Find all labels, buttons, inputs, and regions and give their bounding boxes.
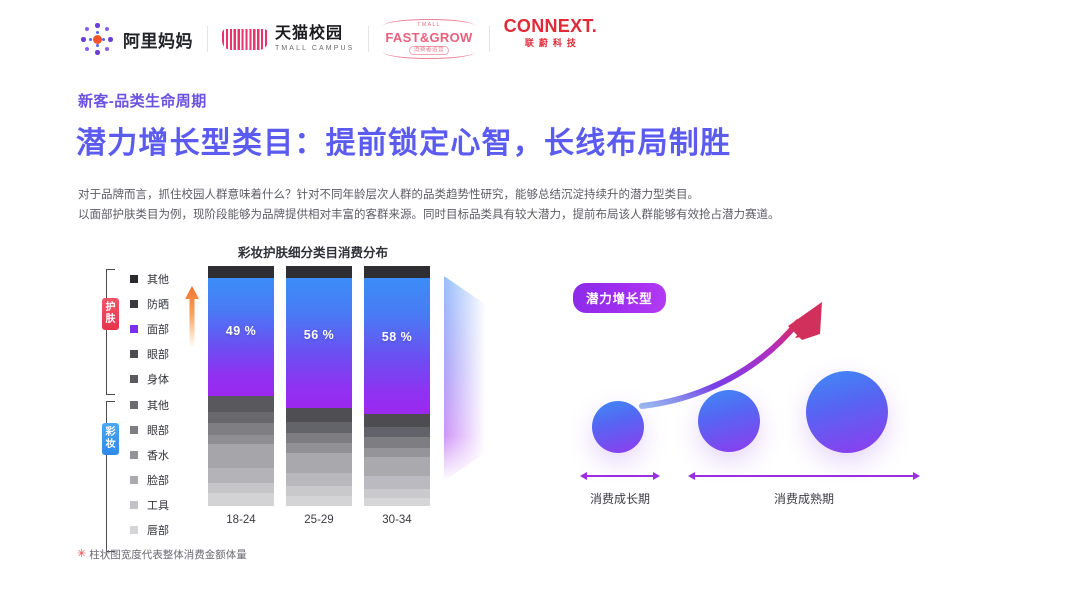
segment-makeup-face	[286, 473, 352, 486]
legend-label: 脸部	[147, 472, 169, 488]
legend-item: 身体	[130, 367, 220, 392]
segment-skincare-eye	[364, 414, 430, 427]
bar-label-30-34: 58 %	[364, 330, 430, 344]
group-badge-skincare-c2: 肤	[102, 314, 119, 326]
segment-skincare-body	[208, 412, 274, 423]
slide-page: 阿里妈妈 天猫校园 TMALL CAMPUS TMALL FAST&GROW 消…	[0, 0, 1080, 608]
segment-skincare-face: 49 %	[208, 278, 274, 396]
legend-swatch	[130, 426, 138, 434]
bar-label-18-24: 49 %	[208, 324, 274, 338]
logo-bar: 阿里妈妈 天猫校园 TMALL CAMPUS TMALL FAST&GROW 消…	[80, 17, 597, 61]
phase-axis-growth	[586, 475, 654, 477]
legend-swatch	[130, 451, 138, 459]
segment-skincare-face: 56 %	[286, 278, 352, 408]
bubble-large	[806, 371, 888, 453]
skincare-bracket	[106, 269, 116, 395]
segment-makeup-face	[208, 468, 274, 483]
paragraph-line-1: 对于品牌而言，抓住校园人群意味着什么？针对不同年龄层次人群的品类趋势性研究，能够…	[78, 185, 958, 205]
logo-fast-and-grow: TMALL FAST&GROW 消费者运营	[383, 17, 474, 61]
growth-lifecycle-diagram: 潜力增长型 消费成长期 消费成熟期	[548, 268, 968, 533]
legend-label: 防晒	[147, 296, 169, 312]
segment-skincare-other	[208, 266, 274, 278]
intro-paragraph: 对于品牌而言，抓住校园人群意味着什么？针对不同年龄层次人群的品类趋势性研究，能够…	[78, 185, 958, 225]
logo-connext: CONNEXT. 联蔚科技	[504, 17, 597, 61]
segment-skincare-eye	[286, 408, 352, 422]
bar-18-24[interactable]: 49 %	[208, 266, 274, 506]
alimama-mark-icon	[80, 22, 114, 56]
legend-item: 工具	[130, 493, 220, 518]
phase-label-maturity: 消费成熟期	[754, 490, 854, 507]
logo-divider-1	[207, 26, 208, 52]
logo-tmall-campus: 天猫校园 TMALL CAMPUS	[222, 17, 354, 61]
bar-30-34[interactable]: 58 %	[364, 266, 430, 506]
legend-swatch	[130, 350, 138, 358]
segment-makeup-tools	[286, 486, 352, 496]
segment-makeup-lip	[286, 496, 352, 506]
legend-swatch	[130, 275, 138, 283]
segment-makeup-perfume	[286, 453, 352, 473]
legend-label: 其他	[147, 397, 169, 413]
logo-divider-3	[489, 26, 490, 52]
legend-item: 眼部	[130, 342, 220, 367]
phase-axis-maturity	[694, 475, 914, 477]
logo-divider-2	[368, 26, 369, 52]
stacked-bar-chart: 彩妆护肤细分类目消费分布 护 肤 彩 妆 其他 防晒 面部 眼部 身体 其他 眼…	[100, 238, 500, 528]
bar-label-25-29: 56 %	[286, 328, 352, 342]
logo-alimama: 阿里妈妈	[80, 17, 193, 61]
fastgrow-top-text: TMALL	[417, 23, 441, 29]
segment-makeup-eye	[364, 448, 430, 457]
segment-makeup-lip	[364, 498, 430, 506]
legend-label: 身体	[147, 371, 169, 387]
tmall-campus-en: TMALL CAMPUS	[275, 45, 354, 52]
segment-skincare-eye	[208, 396, 274, 412]
segment-makeup-eye	[286, 443, 352, 453]
chart-legend: 其他 防晒 面部 眼部 身体 其他 眼部 香水 脸部 工具 唇部	[130, 266, 220, 543]
chart-plot-area: 49 % 56 %	[208, 266, 438, 506]
legend-swatch	[130, 401, 138, 409]
legend-label: 唇部	[147, 522, 169, 538]
chart-title: 彩妆护肤细分类目消费分布	[238, 242, 388, 261]
group-badge-skincare: 护 肤	[102, 298, 119, 330]
fastgrow-bottom-text: 消费者运营	[409, 46, 450, 56]
group-badge-skincare-c1: 护	[102, 302, 119, 314]
segment-skincare-face: 58 %	[364, 278, 430, 414]
legend-item: 唇部	[130, 518, 220, 543]
footnote-text: 柱状图宽度代表整体消费金额体量	[89, 547, 247, 562]
segment-makeup-other	[364, 437, 430, 448]
segment-makeup-perfume	[208, 444, 274, 468]
tmall-bars-icon	[222, 27, 268, 51]
legend-item: 脸部	[130, 468, 220, 493]
alimama-label: 阿里妈妈	[123, 27, 193, 52]
xtick-30-34: 30-34	[364, 514, 430, 526]
legend-swatch	[130, 375, 138, 383]
growth-up-arrow-icon	[184, 286, 200, 348]
footnote-star-icon: ✳	[77, 549, 86, 560]
legend-swatch	[130, 325, 138, 333]
page-title: 潜力增长型类目：提前锁定心智，长线布局制胜	[76, 118, 731, 162]
legend-swatch	[130, 526, 138, 534]
legend-label: 眼部	[147, 422, 169, 438]
xtick-18-24: 18-24	[208, 514, 274, 526]
group-badge-makeup-c1: 彩	[102, 427, 119, 439]
segment-skincare-other	[364, 266, 430, 278]
legend-label: 工具	[147, 497, 169, 513]
segment-makeup-tools	[364, 489, 430, 498]
segment-makeup-tools	[208, 483, 274, 493]
legend-item: 防晒	[130, 291, 220, 316]
group-badge-makeup: 彩 妆	[102, 423, 119, 455]
group-badge-makeup-c2: 妆	[102, 439, 119, 451]
legend-label: 香水	[147, 447, 169, 463]
fastgrow-main-text: FAST&GROW	[385, 31, 472, 44]
connext-sub-text: 联蔚科技	[520, 39, 581, 48]
paragraph-line-2: 以面部护肤类目为例，现阶段能够为品牌提供相对丰富的客群来源。同时目标品类具有较大…	[78, 205, 958, 225]
segment-makeup-perfume	[364, 457, 430, 476]
segment-makeup-other	[286, 433, 352, 443]
phase-label-growth: 消费成长期	[570, 490, 670, 507]
segment-makeup-lip	[208, 493, 274, 506]
legend-item: 香水	[130, 442, 220, 467]
section-kicker: 新客-品类生命周期	[78, 90, 207, 111]
xtick-25-29: 25-29	[286, 514, 352, 526]
segment-makeup-face	[364, 476, 430, 489]
legend-item: 其他	[130, 266, 220, 291]
bar-25-29[interactable]: 56 %	[286, 266, 352, 506]
bubble-medium	[698, 390, 760, 452]
legend-item: 眼部	[130, 417, 220, 442]
legend-swatch	[130, 501, 138, 509]
bubble-small	[592, 401, 644, 453]
tmall-campus-cn: 天猫校园	[275, 26, 354, 42]
segment-makeup-eye	[208, 435, 274, 444]
connext-main-text: CONNEXT.	[504, 17, 597, 35]
segment-skincare-other	[286, 266, 352, 278]
chart-footnote: ✳ 柱状图宽度代表整体消费金额体量	[77, 547, 247, 562]
legend-label: 其他	[147, 271, 169, 287]
legend-label: 眼部	[147, 346, 169, 362]
legend-swatch	[130, 476, 138, 484]
segment-skincare-body	[364, 427, 430, 437]
projected-growth-bar	[444, 276, 486, 481]
segment-makeup-other	[208, 423, 274, 435]
segment-skincare-body	[286, 422, 352, 433]
legend-label: 面部	[147, 321, 169, 337]
legend-swatch	[130, 300, 138, 308]
legend-item: 其他	[130, 392, 220, 417]
legend-item: 面部	[130, 316, 220, 341]
